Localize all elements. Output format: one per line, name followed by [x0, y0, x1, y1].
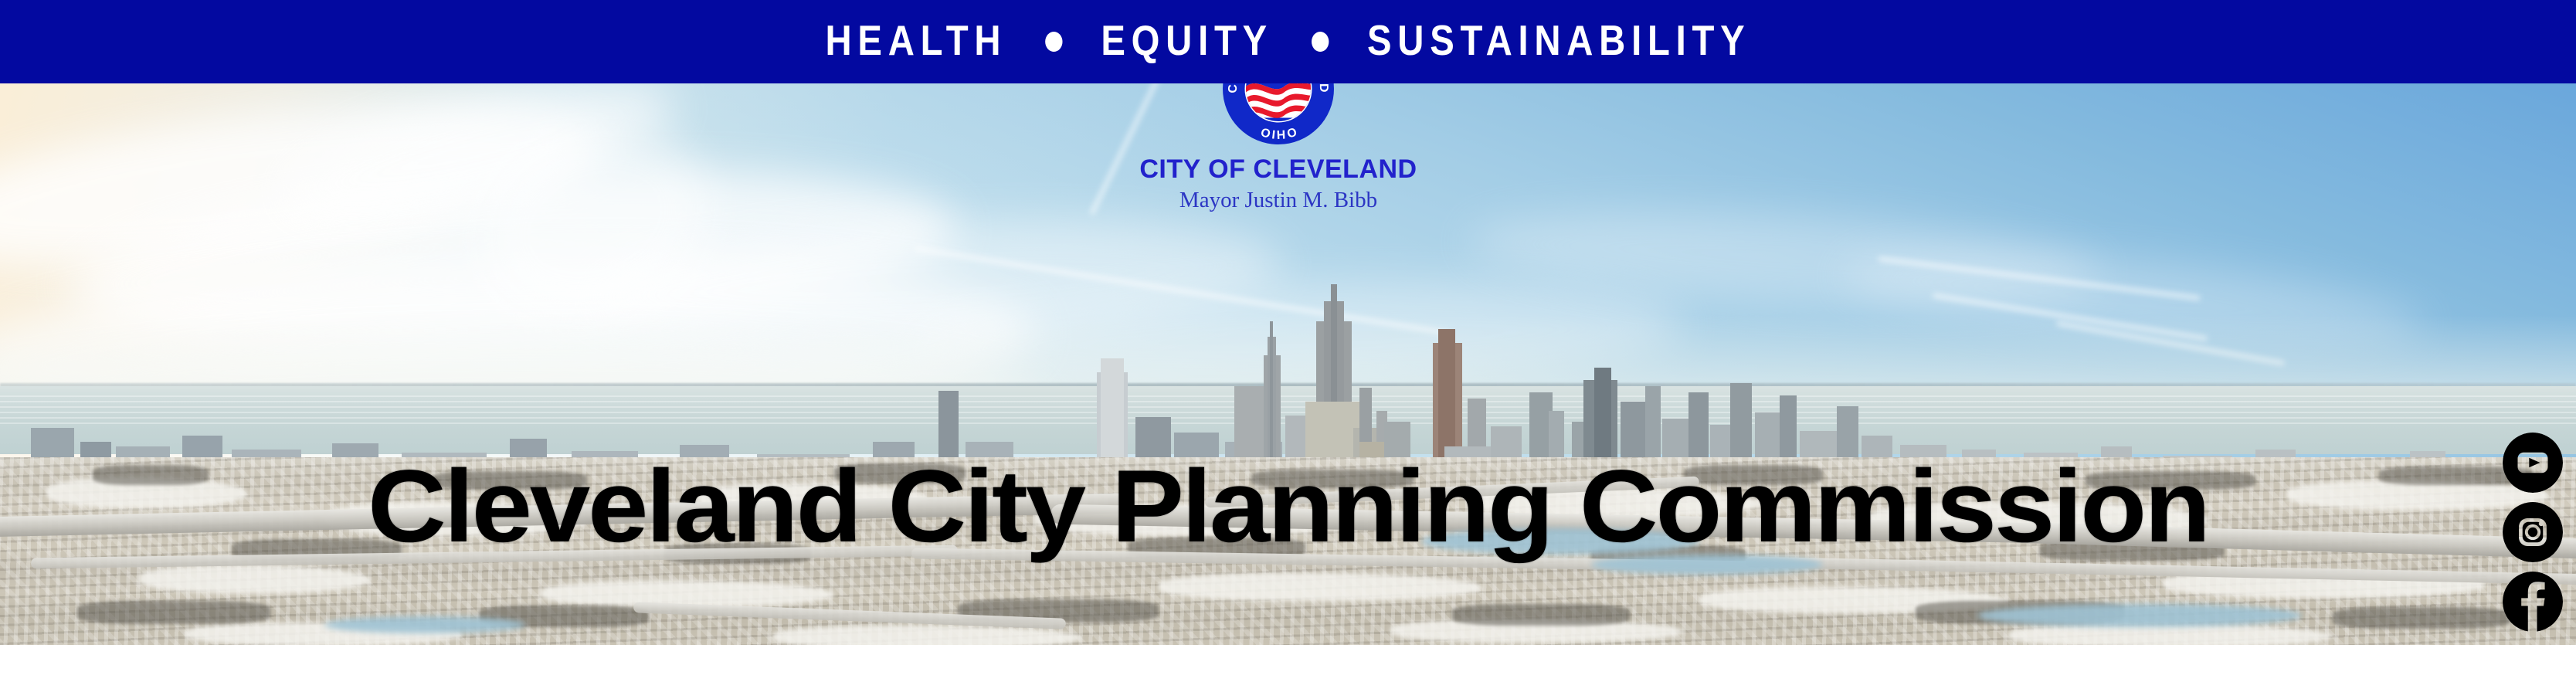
- city-name-label: CITY OF CLEVELAND: [1039, 156, 1518, 182]
- tagline-banner: HEALTH EQUITY SUSTAINABILITY: [0, 0, 2576, 83]
- youtube-icon: [2503, 433, 2563, 493]
- bullet-dot-icon: [1045, 32, 1062, 52]
- tagline-word-health: HEALTH: [826, 19, 1007, 62]
- mayor-name-label: Mayor Justin M. Bibb: [1039, 189, 1518, 212]
- youtube-link[interactable]: [2503, 433, 2563, 493]
- social-media-rail: [2503, 433, 2563, 632]
- bullet-dot-icon: [1312, 32, 1329, 52]
- bottom-white-strip: [0, 645, 2576, 682]
- tagline-word-sustainability: SUSTAINABILITY: [1367, 19, 1750, 62]
- page-title: Cleveland City Planning Commission: [0, 456, 2576, 558]
- facebook-link[interactable]: [2503, 572, 2563, 632]
- tagline-text-group: HEALTH EQUITY SUSTAINABILITY: [826, 19, 1751, 64]
- instagram-link[interactable]: [2503, 502, 2563, 562]
- tagline-word-equity: EQUITY: [1101, 19, 1273, 62]
- instagram-icon: [2503, 502, 2563, 562]
- facebook-icon: [2503, 572, 2563, 632]
